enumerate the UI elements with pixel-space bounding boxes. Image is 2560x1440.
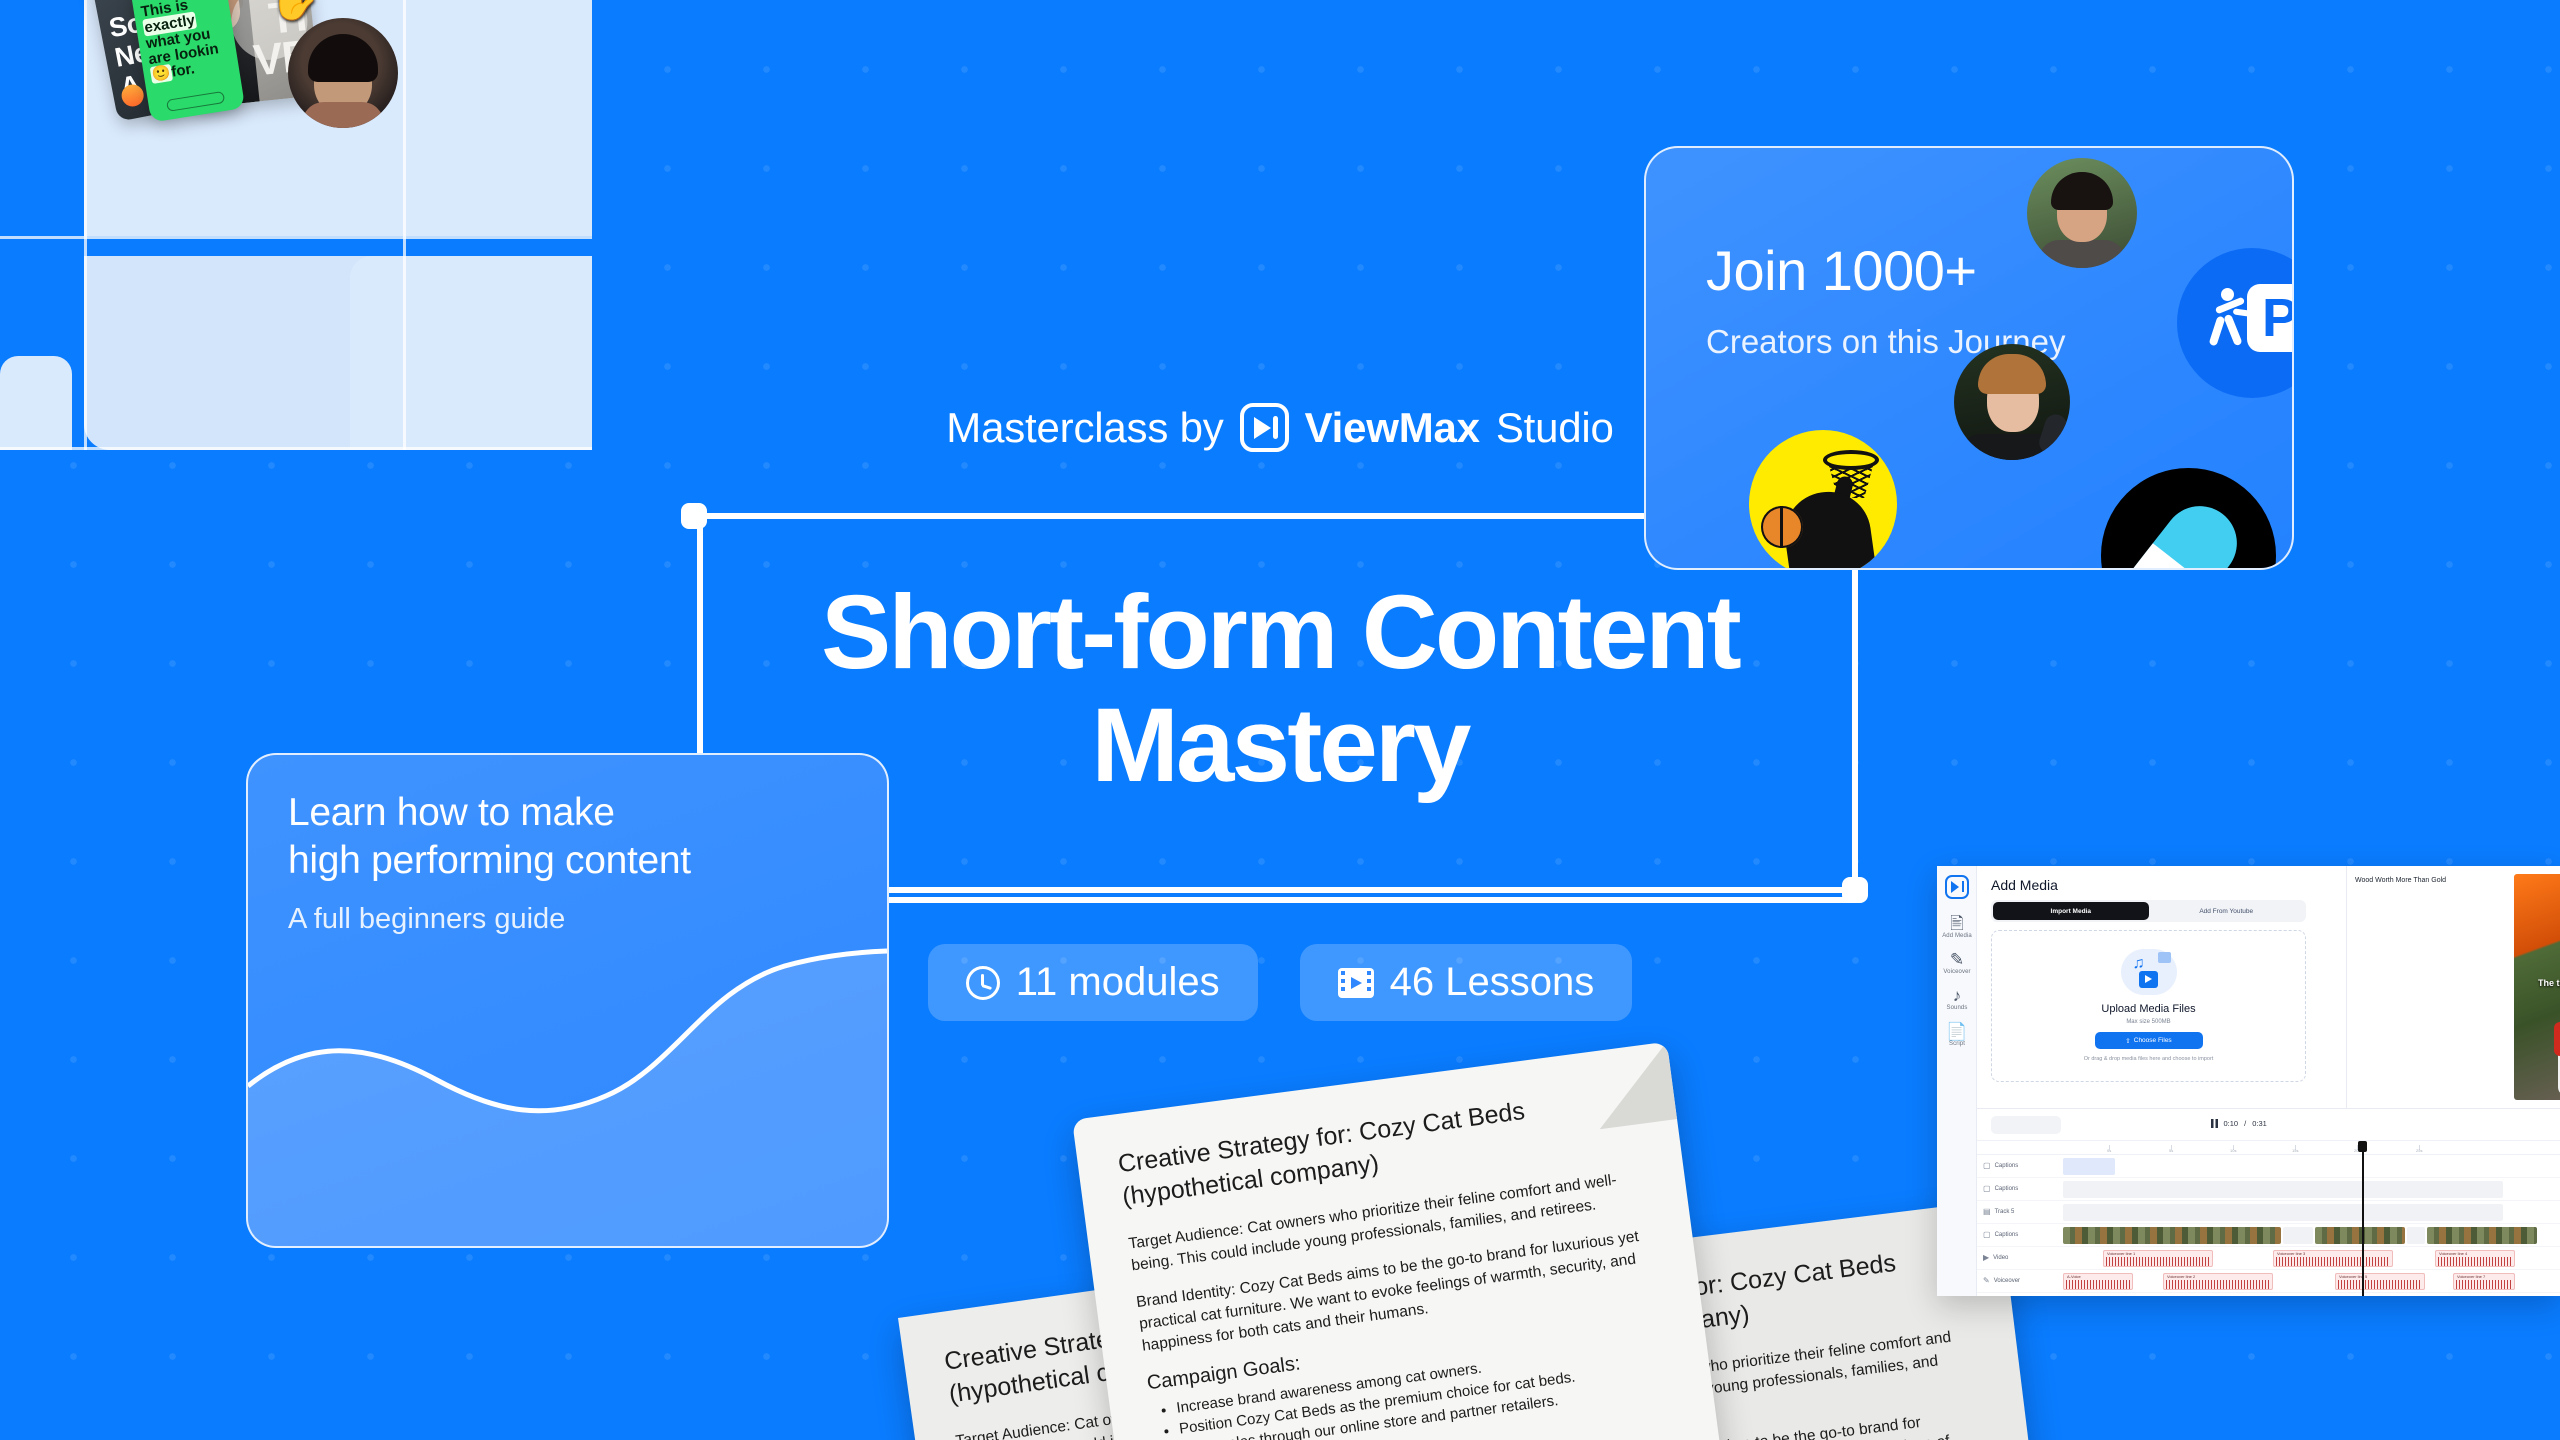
film-icon [1338, 968, 1374, 998]
timeline-clip[interactable]: Voiceover line 5 [2335, 1273, 2425, 1290]
ruler-tick-label: 15s [2292, 1148, 2298, 1153]
top-left-app-mockup: SoNeA CTIVE This is exactly what you are… [0, 0, 592, 450]
join-title: Join 1000+ [1706, 238, 1977, 303]
timeline-clip[interactable] [2063, 1204, 2503, 1221]
timeline-ruler: 0s 5s 10s 15s 20s 25s [1977, 1141, 2560, 1155]
time-current: 0:10 [2224, 1119, 2239, 1128]
brand-suffix: Studio [1496, 404, 1614, 452]
parking-logo-icon [2177, 248, 2294, 398]
timeline-row-label: ▢ Captions [1983, 1230, 2018, 1239]
ruler-tick-label: 5s [2169, 1148, 2173, 1153]
editor-transport-bar: 0:10 / 0:31 [1977, 1108, 2560, 1140]
timeline-clip[interactable]: Voiceover line 2 [2163, 1273, 2273, 1290]
timeline-row[interactable]: ▢ Captions [1977, 1224, 2560, 1247]
masterclass-byline: Masterclass by ViewMax Studio [0, 403, 2560, 452]
badge-modules-label: 11 modules [1016, 960, 1220, 1005]
tab-import-media[interactable]: Import Media [1993, 902, 2149, 920]
timeline-row-label: ▶ Video [1983, 1253, 2008, 1262]
timeline-track[interactable] [2063, 1227, 2556, 1244]
clock-icon [966, 966, 1000, 1000]
timeline-row-label: ▢ Captions [1983, 1184, 2018, 1193]
panel-title: Add Media [1991, 877, 2058, 893]
sidebar-label: Voiceover [1937, 969, 1977, 975]
timeline-clip[interactable]: A-Voice [2063, 1273, 2133, 1290]
mock-panel-gap [84, 236, 592, 256]
editor-timeline[interactable]: 0s 5s 10s 15s 20s 25s ▢ Captions ▢ Capti… [1977, 1140, 2560, 1296]
timeline-row-label: ▢ Captions [1983, 1161, 2018, 1170]
timeline-row-label: ✎ Voiceover [1983, 1276, 2020, 1285]
video-icon: ▶ [1983, 1253, 1989, 1262]
timeline-row[interactable]: ▢ Captions [1977, 1178, 2560, 1201]
sidebar-label: Add Media [1937, 933, 1977, 939]
voiceover-icon: ✎ [1983, 1276, 1990, 1285]
timeline-row-label: ▤ Track 5 [1983, 1207, 2014, 1216]
figure-head [2221, 288, 2234, 301]
time-total: 0:31 [2252, 1119, 2267, 1128]
join-creators-card: Join 1000+ Creators on this Journey [1644, 146, 2294, 570]
photo-icon [2158, 952, 2171, 963]
upload-icon: ⇧ [2125, 1037, 2130, 1045]
sidebar-item-voiceover[interactable]: ✎ Voiceover [1937, 950, 1977, 975]
dropzone-max-size: Max size 500MB [1992, 1019, 2305, 1025]
transport-button[interactable] [1991, 1116, 2061, 1134]
mock-card-green-text: This is exactly what you are lookin 🙂for… [140, 0, 235, 84]
parking-letter [2247, 284, 2294, 352]
timeline-clip[interactable]: Voiceover line 7 [2453, 1273, 2515, 1290]
avatar-body [302, 102, 384, 128]
page-title: Short-form Content Mastery [0, 576, 2560, 802]
mock-avatar [288, 18, 398, 128]
badge-modules[interactable]: 11 modules [928, 944, 1258, 1021]
captions-icon: ▢ [1983, 1230, 1991, 1239]
timeline-row[interactable]: ▢ Captions [1977, 1155, 2560, 1178]
masterclass-prefix: Masterclass by [946, 404, 1223, 452]
learn-title: Learn how to make high performing conten… [288, 789, 691, 885]
timeline-clip[interactable] [2063, 1181, 2503, 1198]
tab-add-from-youtube[interactable]: Add From Youtube [2149, 902, 2305, 920]
ruler-tick-label: 25s [2416, 1148, 2422, 1153]
basketball [1761, 506, 1803, 548]
sidebar-item-add-media[interactable]: 🖹 Add Media [1937, 914, 1977, 939]
dropzone-hint: Or drag & drop media files here and choo… [1992, 1055, 2305, 1063]
creator-avatar-1 [2027, 158, 2137, 268]
avatar-shirt [2039, 240, 2125, 268]
timeline-track[interactable]: A-Voice Voiceover line 2 Voiceover line … [2063, 1273, 2556, 1290]
timeline-clip[interactable] [2063, 1227, 2281, 1244]
drag-hand-cursor-icon: ✋ [268, 0, 320, 20]
learn-subtitle: A full beginners guide [288, 903, 565, 936]
timeline-clip[interactable] [2063, 1158, 2115, 1175]
sidebar-item-script[interactable]: 📄 Script [1937, 1022, 1977, 1047]
choose-files-label: Choose Files [2134, 1037, 2172, 1044]
timeline-track[interactable] [2063, 1181, 2556, 1198]
timeline-row[interactable]: ▤ Track 5 [1977, 1201, 2560, 1224]
choose-files-button[interactable]: ⇧ Choose Files [2095, 1032, 2203, 1049]
editor-main-panel: Add Media Import Media Add From Youtube … [1977, 866, 2560, 1108]
timeline-clip[interactable]: Voiceover line 3 [2273, 1250, 2393, 1267]
sidebar-item-sounds[interactable]: ♪ Sounds [1937, 986, 1977, 1011]
timeline-clip[interactable] [2315, 1227, 2405, 1244]
time-separator: / [2244, 1119, 2246, 1128]
sidebar-label: Script [1937, 1041, 1977, 1047]
preview-title: Wood Worth More Than Gold [2355, 877, 2446, 884]
timeline-playhead[interactable] [2362, 1141, 2364, 1296]
brand-name: ViewMax [1305, 404, 1480, 452]
figure-leg-1 [2209, 315, 2226, 346]
dropzone-heading: Upload Media Files [1992, 1003, 2305, 1015]
upload-illustration: ♫ [2119, 949, 2179, 997]
sounds-icon: ♪ [1937, 986, 1977, 1005]
connector-node-top [681, 503, 707, 529]
timeline-track[interactable]: Voiceover line 1 Voiceover line 3 Voiceo… [2063, 1250, 2556, 1267]
video-preview[interactable]: The tre [2514, 874, 2560, 1100]
badge-lessons-label: 46 Lessons [1390, 960, 1595, 1005]
pause-icon[interactable] [2211, 1119, 2218, 1128]
connector-node-bottom [1842, 877, 1868, 903]
captions-icon: ▢ [1983, 1161, 1991, 1170]
video-editor-app: 🖹 Add Media ✎ Voiceover ♪ Sounds 📄 Scrip… [1937, 866, 2560, 1296]
timeline-track[interactable] [2063, 1158, 2556, 1175]
timeline-clip[interactable] [2283, 1227, 2313, 1244]
timeline-track[interactable] [2063, 1204, 2556, 1221]
strategy-document-main: Creative Strategy for: Cozy Cat Beds (hy… [1072, 1042, 1724, 1440]
add-media-icon: 🖹 [1937, 914, 1977, 933]
learn-title-line2: high performing content [288, 839, 691, 882]
video-caption: The tre [2538, 978, 2560, 988]
script-icon: 📄 [1937, 1022, 1977, 1041]
avatar-hair [1978, 354, 2046, 394]
avatar-hair [2051, 172, 2113, 210]
ruler-tick-label: 10s [2230, 1148, 2236, 1153]
timeline-row[interactable]: ✎ Voiceover A-Voice Voiceover line 2 Voi… [1977, 1270, 2560, 1293]
editor-sidebar: 🖹 Add Media ✎ Voiceover ♪ Sounds 📄 Scrip… [1937, 866, 1977, 1296]
play-skip-icon [1240, 403, 1289, 452]
timeline-clip[interactable]: Voiceover line 4 [2435, 1250, 2515, 1267]
preview-sleeve [2554, 1022, 2560, 1056]
capsule-top [2112, 491, 2252, 570]
voiceover-icon: ✎ [1937, 950, 1977, 969]
playback-time: 0:10 / 0:31 [2211, 1119, 2267, 1128]
sidebar-label: Sounds [1937, 1005, 1977, 1011]
figure-leg-2 [2223, 314, 2242, 347]
page-title-line1: Short-form Content [821, 574, 1739, 691]
viewmax-play-icon [1945, 875, 1969, 899]
avatar-hair [308, 34, 378, 82]
upload-dropzone[interactable]: ♫ Upload Media Files Max size 500MB ⇧ Ch… [1991, 930, 2306, 1082]
panel-divider [2346, 866, 2347, 1108]
timeline-row[interactable]: ▶ Video Voiceover line 1 Voiceover line … [1977, 1247, 2560, 1270]
timeline-clip[interactable]: Voiceover line 1 [2103, 1250, 2213, 1267]
capsule-logo-icon [2101, 468, 2276, 570]
mock-card-button[interactable] [166, 91, 225, 112]
mock-grid-line-left [84, 0, 87, 450]
captions-icon: ▢ [1983, 1184, 1991, 1193]
ruler-tick-label: 0s [2107, 1148, 2111, 1153]
track-icon: ▤ [1983, 1207, 1991, 1216]
mock-grid-line-h1 [0, 236, 592, 239]
page-title-line2: Mastery [1091, 687, 1468, 804]
timeline-clip[interactable] [2407, 1227, 2425, 1244]
timeline-clip[interactable] [2427, 1227, 2537, 1244]
badge-lessons[interactable]: 46 Lessons [1300, 944, 1633, 1021]
mock-grid-line-mid [403, 0, 406, 450]
media-source-tabs: Import Media Add From Youtube [1991, 900, 2306, 922]
video-play-icon [2139, 971, 2158, 988]
